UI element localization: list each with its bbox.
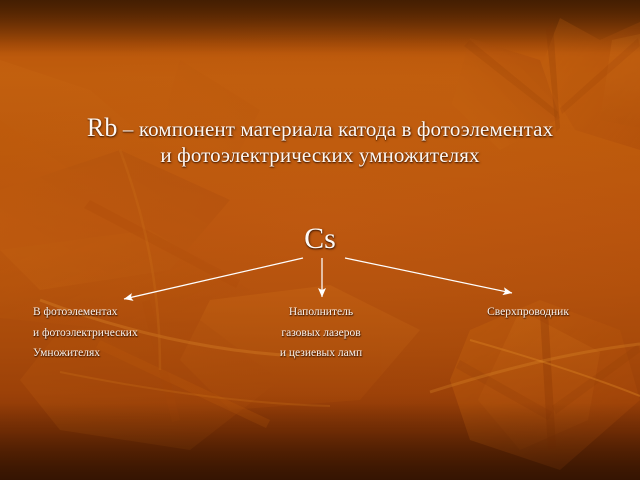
page-title: Rb – компонент материала катода в фотоэл… (0, 113, 640, 168)
title-line-1-text: – компонент материала катода в фотоэлеме… (118, 117, 554, 141)
branch-label-middle: Наполнитель газовых лазеров и цезиевых л… (242, 302, 400, 364)
diagram-root-node: Cs (0, 222, 640, 256)
branch-middle-line-3: и цезиевых ламп (242, 343, 400, 364)
branch-label-right: Сверхпроводник (443, 302, 613, 323)
title-line-1: Rb – компонент материала катода в фотоэл… (0, 113, 640, 143)
branch-left-line-3: Умножителях (33, 343, 138, 364)
branch-middle-line-2: газовых лазеров (242, 323, 400, 344)
slide-canvas: Rb – компонент материала катода в фотоэл… (0, 0, 640, 480)
leaf-shape-lower-right (450, 300, 640, 470)
branch-label-left: В фотоэлементах и фотоэлектрических Умно… (33, 302, 138, 364)
branch-left-line-2: и фотоэлектрических (33, 323, 138, 344)
title-element-symbol: Rb (87, 113, 118, 142)
branch-right-line-1: Сверхпроводник (443, 302, 613, 323)
branch-left-line-1: В фотоэлементах (33, 302, 138, 323)
title-line-2: и фотоэлектрических умножителях (0, 143, 640, 167)
branch-middle-line-1: Наполнитель (242, 302, 400, 323)
